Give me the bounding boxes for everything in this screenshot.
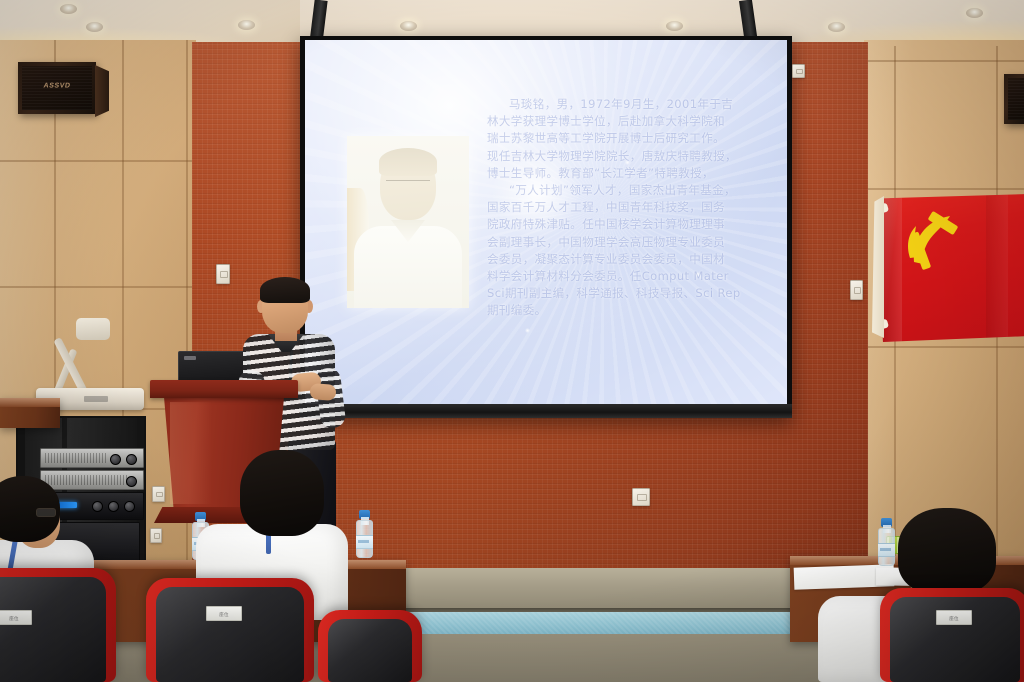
attendee-glasses-left <box>36 508 56 517</box>
stage-side-table-left <box>0 398 60 428</box>
podium-highlight <box>170 402 212 504</box>
chair-front-center[interactable]: 座位 <box>146 578 314 682</box>
slide-line: 料学会计算材料分会委员。任Comput Mater <box>487 268 761 285</box>
power-outlet[interactable] <box>632 488 650 506</box>
slide-line: 马琰铭，男，1972年9月生，2001年于吉 <box>487 96 761 113</box>
wall-control-plate[interactable] <box>216 264 230 284</box>
attendee-head-center <box>240 450 324 536</box>
projection-screen-weight-bar <box>300 404 792 418</box>
slide-sparkle-icon <box>525 328 530 333</box>
table-top-sheen <box>0 398 60 407</box>
chair-seat-label: 座位 <box>0 610 32 625</box>
chair-front-right[interactable]: 座位 <box>880 588 1024 682</box>
bottle-label <box>356 535 373 549</box>
mixer-knob[interactable] <box>92 501 103 512</box>
downlight-icon <box>966 8 983 18</box>
chair-seat-label: 座位 <box>936 610 972 625</box>
wood-panel-seam <box>864 60 1024 62</box>
projector-badge <box>84 396 108 402</box>
water-bottle[interactable] <box>878 518 895 566</box>
projection-screen-surface: 马琰铭，男，1972年9月生，2001年于吉 林大学获理学博士学位，后赴加拿大科… <box>305 40 787 404</box>
wall-speaker-left: ASSVD <box>18 62 96 114</box>
slide-line: 会委员，凝聚态计算专业委员会委员，中国材 <box>487 251 761 268</box>
hammer-and-sickle-icon <box>902 210 976 276</box>
wall-control-plate[interactable] <box>850 280 863 300</box>
bottle-label <box>878 543 895 557</box>
wood-panel-seam <box>864 188 1024 190</box>
slide-line: Sci期刊副主编，科学通报、科技导报、Sci Rep <box>487 285 761 302</box>
downlight-icon <box>238 20 255 30</box>
speaker-grille <box>1008 78 1024 120</box>
chair-back-panel <box>328 619 412 682</box>
downlight-icon <box>86 22 103 32</box>
mixer-knob[interactable] <box>124 501 135 512</box>
lecture-hall-scene: 马琰铭，男，1972年9月生，2001年于吉 林大学获理学博士学位，后赴加拿大科… <box>0 0 1024 682</box>
slide-line: 博士生导师。教育部“长江学者”特聘教授， <box>487 165 761 182</box>
overhead-projector-head <box>76 318 110 340</box>
chair-back-panel <box>156 587 304 682</box>
amplifier-vent <box>45 453 106 463</box>
slide-line: 期刊编委。 <box>487 302 761 319</box>
mixer-knob[interactable] <box>108 501 119 512</box>
slide-line: 现任吉林大学物理学院院长，唐敖庆特聘教授， <box>487 148 761 165</box>
speaker-brand-label: ASSVD <box>43 82 71 89</box>
wall-speaker-right <box>1004 74 1024 124</box>
wood-panel-seam <box>0 160 192 162</box>
podium-top-surface <box>150 380 298 398</box>
amplifier-knob[interactable] <box>126 454 137 465</box>
presenter-hair <box>260 277 310 303</box>
slide-line: 院政府特殊津贴。任中国核学会计算物理理事 <box>487 216 761 233</box>
equalizer-knob[interactable] <box>126 476 137 487</box>
chair-back-panel <box>0 577 106 682</box>
chair-seat-label: 座位 <box>206 606 242 621</box>
presenter-hand-right <box>309 383 336 401</box>
rack-unit-equalizer[interactable] <box>40 470 144 490</box>
slide-line: 瑞士苏黎世高等工学院开展博士后研究工作。 <box>487 130 761 147</box>
downlight-icon <box>828 22 845 32</box>
rack-unit-amplifier[interactable] <box>40 448 144 468</box>
slide-line: “万人计划”领军人才，国家杰出青年基金， <box>487 182 761 199</box>
slide-line: 国家百千万人才工程，中国青年科技奖，国务 <box>487 199 761 216</box>
cpc-flag <box>880 194 1024 342</box>
slide-line: 会副理事长，中国物理学会高压物理专业委员 <box>487 234 761 251</box>
power-outlet[interactable] <box>792 64 805 78</box>
water-bottle[interactable] <box>356 510 373 558</box>
downlight-icon <box>666 21 683 31</box>
chair-front-left[interactable]: 座位 <box>0 568 116 682</box>
downlight-icon <box>400 21 417 31</box>
attendee-head-right <box>898 508 996 594</box>
speaker-side-panel <box>95 65 109 117</box>
amplifier-knob[interactable] <box>110 454 121 465</box>
stage-platform-front <box>400 568 830 612</box>
laptop-logo <box>184 356 196 360</box>
projection-screen: 马琰铭，男，1972年9月生，2001年于吉 林大学获理学博士学位，后赴加拿大科… <box>300 36 792 418</box>
equalizer-vent <box>45 475 127 485</box>
carpet-strip <box>400 612 830 634</box>
slide-portrait-photo <box>347 136 469 308</box>
chair-center-rear[interactable] <box>318 610 422 682</box>
wood-panel-seam <box>864 346 1024 348</box>
flag-fold <box>986 194 1008 342</box>
wood-panel-seam <box>0 286 192 288</box>
slide-body-text: 马琰铭，男，1972年9月生，2001年于吉 林大学获理学博士学位，后赴加拿大科… <box>487 96 761 320</box>
slide-line: 林大学获理学博士学位，后赴加拿大科学院和 <box>487 113 761 130</box>
downlight-icon <box>60 4 77 14</box>
table-front-panel <box>0 407 60 428</box>
